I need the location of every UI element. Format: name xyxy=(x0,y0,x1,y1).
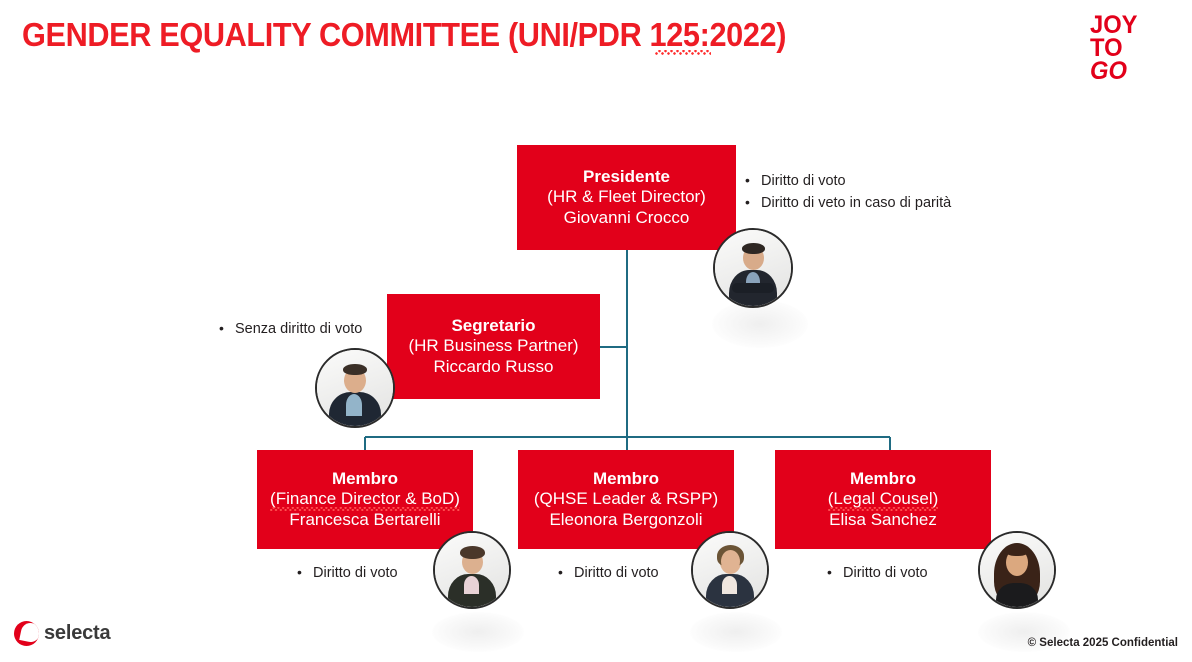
avatar-francesca-bertarelli xyxy=(433,531,511,609)
note-text: Diritto di voto xyxy=(313,562,398,584)
org-node-name: Francesca Bertarelli xyxy=(289,510,440,530)
org-node-department-text: (Legal Cousel) xyxy=(828,489,939,509)
org-node-name: Eleonora Bergonzoli xyxy=(549,510,702,530)
bullet-icon: • xyxy=(219,318,235,339)
org-node-role: Presidente xyxy=(583,167,670,187)
org-node-role: Membro xyxy=(332,469,398,489)
notes-segretario: • Senza diritto di voto xyxy=(219,318,362,340)
org-node-department: (HR Business Partner) xyxy=(408,336,578,356)
bullet-icon: • xyxy=(745,192,761,213)
org-node-department-text: (Finance Director & BoD) xyxy=(270,489,460,509)
org-node-name: Giovanni Crocco xyxy=(564,208,690,228)
note-item: • Diritto di voto xyxy=(827,562,928,584)
shadow-artifact xyxy=(690,612,782,652)
selecta-mark-icon xyxy=(14,621,39,646)
notes-membro-legal: • Diritto di voto xyxy=(827,562,928,584)
org-node-name: Riccardo Russo xyxy=(434,357,554,377)
selecta-wordmark: selecta xyxy=(44,622,110,645)
org-node-role: Membro xyxy=(850,469,916,489)
avatar-eleonora-bergonzoli xyxy=(691,531,769,609)
note-item: • Diritto di voto xyxy=(558,562,659,584)
note-text: Senza diritto di voto xyxy=(235,318,362,340)
org-node-department: (HR & Fleet Director) xyxy=(547,187,706,207)
org-node-department: (Legal Cousel) xyxy=(828,489,939,509)
note-item: • Diritto di veto in caso di parità xyxy=(745,192,951,214)
org-node-name: Elisa Sanchez xyxy=(829,510,937,530)
org-node-membro-legal[interactable]: Membro (Legal Cousel) Elisa Sanchez xyxy=(775,450,991,549)
bullet-icon: • xyxy=(297,562,313,583)
selecta-logo: selecta xyxy=(14,621,110,646)
bullet-icon: • xyxy=(745,170,761,191)
copyright-text: © Selecta 2025 Confidential xyxy=(1028,637,1178,649)
note-item: • Senza diritto di voto xyxy=(219,318,362,340)
note-text: Diritto di voto xyxy=(843,562,928,584)
org-node-role: Segretario xyxy=(451,316,535,336)
avatar-elisa-sanchez xyxy=(978,531,1056,609)
org-node-presidente[interactable]: Presidente (HR & Fleet Director) Giovann… xyxy=(517,145,736,250)
shadow-artifact xyxy=(432,612,524,652)
bullet-icon: • xyxy=(558,562,574,583)
note-text: Diritto di veto in caso di parità xyxy=(761,192,951,214)
org-node-role: Membro xyxy=(593,469,659,489)
org-node-department: (Finance Director & BoD) xyxy=(270,489,460,509)
org-node-segretario[interactable]: Segretario (HR Business Partner) Riccard… xyxy=(387,294,600,399)
note-text: Diritto di voto xyxy=(761,170,846,192)
bullet-icon: • xyxy=(827,562,843,583)
org-chart: Presidente (HR & Fleet Director) Giovann… xyxy=(0,0,1192,662)
avatar-giovanni-crocco xyxy=(713,228,793,308)
org-node-department: (QHSE Leader & RSPP) xyxy=(534,489,718,509)
note-item: • Diritto di voto xyxy=(745,170,951,192)
notes-membro-qhse: • Diritto di voto xyxy=(558,562,659,584)
notes-presidente: • Diritto di voto • Diritto di veto in c… xyxy=(745,170,951,214)
note-text: Diritto di voto xyxy=(574,562,659,584)
note-item: • Diritto di voto xyxy=(297,562,398,584)
avatar-riccardo-russo xyxy=(315,348,395,428)
notes-membro-finance: • Diritto di voto xyxy=(297,562,398,584)
